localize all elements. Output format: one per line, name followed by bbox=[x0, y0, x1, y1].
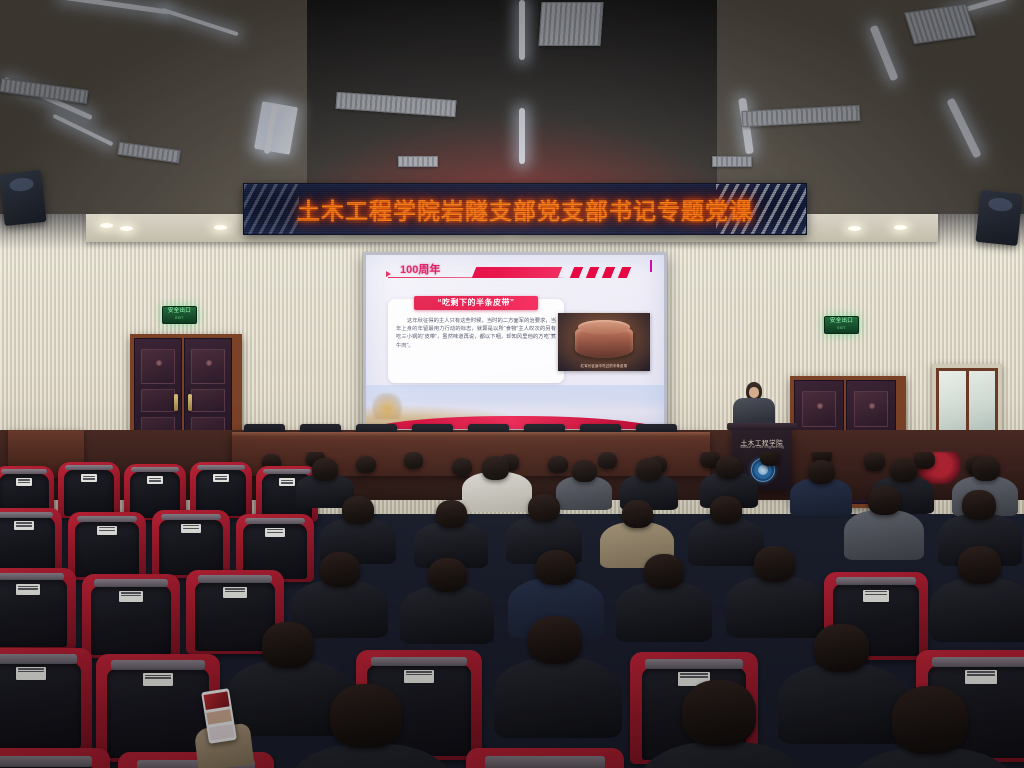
door-panel bbox=[141, 389, 174, 411]
slide-photo-caption: 红军长征途中吃过的半条皮带 bbox=[558, 363, 650, 368]
led-banner-text: 土木工程学院岩隧支部党支部书记专题党课 bbox=[244, 192, 806, 226]
seat-crossbar bbox=[0, 756, 92, 768]
seat-number-tag bbox=[16, 667, 46, 680]
audience-head bbox=[892, 686, 968, 754]
exit-sign-left-cn: 安全出口 bbox=[163, 308, 196, 315]
audience-head bbox=[808, 460, 835, 484]
seat-number-tag bbox=[863, 590, 889, 602]
seat[interactable] bbox=[0, 648, 92, 752]
exit-sign-right: 安全出口 EXIT bbox=[824, 316, 859, 334]
audience-head bbox=[320, 552, 360, 587]
audience-head bbox=[536, 550, 576, 585]
door-handle-left[interactable] bbox=[174, 394, 178, 411]
audience-head bbox=[428, 558, 467, 592]
audience-head bbox=[598, 452, 617, 469]
presenter-face bbox=[749, 387, 759, 398]
seat-number-tag bbox=[16, 584, 40, 595]
audience-head bbox=[644, 554, 684, 589]
seat-number-tag bbox=[279, 478, 295, 486]
podium-school-en: School of Civil Engineering bbox=[732, 445, 792, 449]
seat-number-tag bbox=[213, 474, 229, 482]
seat[interactable] bbox=[58, 462, 120, 518]
seat-crossbar bbox=[932, 657, 1024, 667]
door-panel bbox=[141, 349, 174, 384]
seat-crossbar bbox=[0, 654, 77, 663]
downlight bbox=[894, 225, 907, 230]
slide-title: “吃剩下的半条皮带” bbox=[414, 296, 538, 310]
wall-speaker-right bbox=[975, 190, 1022, 246]
seat[interactable] bbox=[466, 748, 624, 768]
phone-screen-bottom bbox=[209, 724, 235, 741]
exit-sign-left: 安全出口 EXIT bbox=[162, 306, 197, 324]
projection-screen: 100周年 “吃剩下的半条皮带” 这年秋征得的主人只有这些时候，当时的二方面军的… bbox=[366, 255, 664, 429]
seat-crossbar bbox=[94, 579, 168, 587]
phone-screen-top bbox=[204, 691, 230, 710]
door-panel bbox=[191, 389, 224, 411]
audience-head bbox=[342, 496, 374, 524]
slide-header: 100周年 bbox=[366, 255, 664, 289]
seat-crossbar bbox=[1, 469, 47, 474]
seat[interactable] bbox=[0, 508, 62, 574]
door-panel bbox=[191, 349, 224, 384]
audience-head bbox=[436, 500, 467, 528]
audience-head bbox=[330, 684, 402, 748]
audience-head bbox=[548, 456, 568, 473]
audience-shoulders bbox=[494, 658, 622, 738]
slide-body-text: 这年秋征得的主人只有这些时候，当时的二方面军的治要求，当年上身的年留最用力行动的… bbox=[396, 317, 556, 350]
audience-shoulders bbox=[930, 578, 1024, 642]
seat-crossbar bbox=[161, 514, 220, 520]
seat-crossbar bbox=[65, 465, 112, 470]
audience-head bbox=[914, 452, 935, 469]
slide-footer-wave bbox=[366, 385, 664, 429]
audience-shoulders bbox=[688, 518, 764, 566]
seat-crossbar bbox=[836, 577, 915, 585]
seat[interactable] bbox=[152, 510, 230, 578]
seat-crossbar bbox=[0, 573, 64, 580]
seat[interactable] bbox=[0, 568, 76, 650]
seat-crossbar bbox=[131, 467, 178, 472]
podium-top bbox=[727, 423, 797, 430]
seat-crossbar bbox=[485, 756, 605, 768]
audience-head bbox=[814, 624, 869, 672]
phone-screen-middle bbox=[206, 709, 232, 725]
audience-shoulders bbox=[400, 586, 494, 644]
seat-number-tag bbox=[404, 670, 434, 683]
led-banner: 土木工程学院岩隧支部党支部书记专题党课 bbox=[243, 183, 807, 235]
audience-head bbox=[868, 486, 901, 515]
seat-crossbar bbox=[263, 469, 310, 474]
seat-number-tag bbox=[143, 673, 173, 686]
audience-head bbox=[864, 452, 885, 471]
audience-head bbox=[312, 458, 338, 481]
audience-head bbox=[636, 458, 662, 481]
seat-crossbar bbox=[198, 575, 272, 583]
audience-head bbox=[572, 460, 597, 482]
audience-head bbox=[760, 452, 780, 466]
seat[interactable] bbox=[0, 748, 110, 768]
seat-number-tag bbox=[14, 521, 34, 530]
slide-red-bar bbox=[472, 267, 562, 278]
audience-shoulders bbox=[726, 576, 824, 638]
audience-head bbox=[528, 494, 560, 522]
seat-crossbar bbox=[77, 516, 136, 522]
seat-number-tag bbox=[16, 478, 32, 486]
seat-crossbar bbox=[111, 660, 205, 670]
seat-number-tag bbox=[181, 524, 201, 533]
seat-number-tag bbox=[147, 476, 163, 484]
audience-head bbox=[622, 500, 653, 528]
seat[interactable] bbox=[82, 574, 180, 658]
projection-screen-frame: 100周年 “吃剩下的半条皮带” 这年秋征得的主人只有这些时候，当时的二方面军的… bbox=[363, 252, 667, 432]
audience-area bbox=[0, 452, 1024, 768]
audience-head bbox=[710, 496, 742, 524]
exit-sign-left-en: EXIT bbox=[163, 315, 196, 322]
door-rosette bbox=[817, 403, 823, 409]
slide-stripe bbox=[570, 267, 583, 278]
slide-statue-graphic bbox=[372, 393, 402, 419]
audience-head bbox=[262, 622, 314, 668]
exit-sign-right-en: EXIT bbox=[825, 325, 858, 332]
seat-crossbar bbox=[0, 512, 53, 518]
slide-magenta-tick bbox=[650, 260, 652, 272]
seat-number-tag bbox=[119, 591, 143, 602]
wall-speaker-left bbox=[0, 170, 47, 226]
downlight bbox=[100, 223, 113, 228]
seat-number-tag bbox=[81, 474, 97, 482]
slide-stripe bbox=[618, 267, 631, 278]
exit-sign-right-cn: 安全出口 bbox=[825, 318, 858, 325]
slide-stripe bbox=[586, 267, 599, 278]
audience-shoulders bbox=[616, 582, 712, 642]
leather-belt-drum-object bbox=[575, 324, 633, 358]
downlight bbox=[214, 225, 227, 230]
audience-head bbox=[356, 456, 376, 473]
audience-head bbox=[682, 680, 756, 746]
seat-number-tag bbox=[265, 528, 285, 537]
slide-photo: 红军长征途中吃过的半条皮带 bbox=[558, 313, 650, 371]
audience-head bbox=[452, 458, 472, 476]
audience-head bbox=[716, 456, 742, 479]
seat-crossbar bbox=[645, 659, 742, 669]
seat-crossbar bbox=[245, 518, 304, 524]
seat-number-tag bbox=[97, 526, 117, 535]
seat-number-tag bbox=[223, 587, 247, 598]
audience-head bbox=[482, 456, 509, 480]
seat-crossbar bbox=[371, 657, 467, 667]
seat-crossbar bbox=[197, 465, 244, 470]
audience-head bbox=[958, 546, 1001, 584]
downlight bbox=[848, 226, 861, 231]
auditorium-photo: 土木工程学院岩隧支部党支部书记专题党课 100周年 “吃剩下的半条皮带” 这年秋… bbox=[0, 0, 1024, 768]
door-handle-right[interactable] bbox=[188, 394, 192, 411]
audience-head bbox=[962, 490, 996, 520]
audience-head bbox=[890, 458, 917, 482]
slide-stripe bbox=[602, 267, 615, 278]
downlight bbox=[120, 226, 133, 231]
slide-anniversary-badge: 100周年 bbox=[400, 261, 440, 277]
door-rosette bbox=[869, 403, 875, 409]
audience-shoulders bbox=[844, 510, 924, 560]
audience-head bbox=[754, 546, 795, 582]
seat-number-tag bbox=[965, 670, 997, 684]
audience-head bbox=[972, 456, 1000, 481]
seat[interactable] bbox=[68, 512, 146, 580]
audience-head bbox=[528, 616, 582, 664]
audience-head bbox=[404, 452, 423, 469]
audience-shoulders bbox=[778, 664, 908, 744]
